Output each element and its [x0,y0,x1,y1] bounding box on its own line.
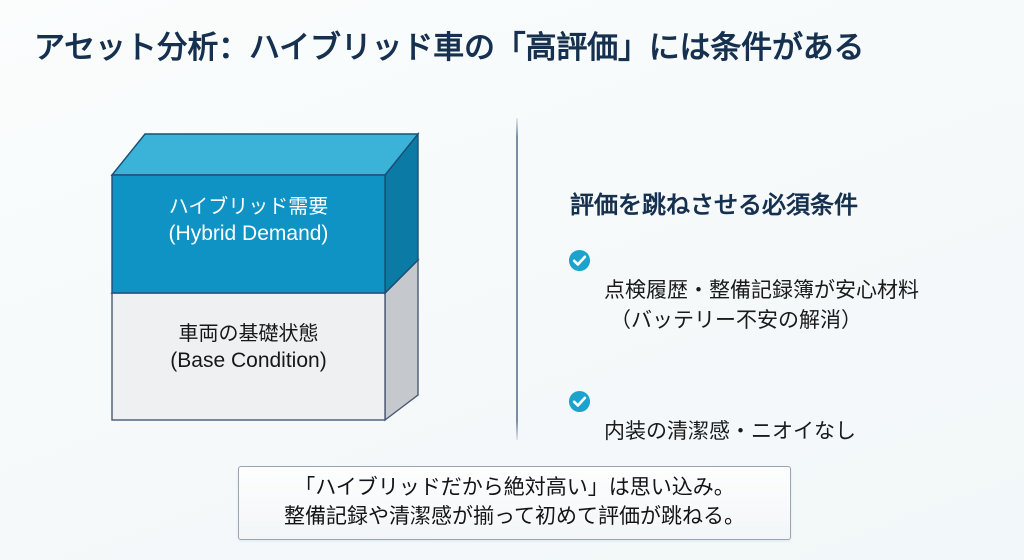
bullet-text-group: 点検履歴・整備記録簿が安心材料 （バッテリー不安の解消） [604,246,919,365]
summary-callout: 「ハイブリッドだから絶対高い」は思い込み。 整備記録や清潔感が揃って初めて評価が… [238,466,791,540]
bullet-main-0: 点検履歴・整備記録簿が安心材料 [604,279,919,302]
callout-line-2: 整備記録や清潔感が揃って初めて評価が跳ねる。 [284,503,745,532]
bullet-sub-0: （バッテリー不安の解消） [604,306,919,336]
block-diagram-svg [100,125,430,430]
hybrid-block-top-face [112,134,418,175]
bullet-text-group: 内装の清潔感・ニオイなし [604,387,856,447]
hybrid-block-front-face [112,175,385,293]
page-title: アセット分析：ハイブリッド車の「高評価」には条件がある [34,22,864,67]
stacked-block-diagram: ハイブリッド需要 (Hybrid Demand) 車両の基礎状態 (Base C… [100,125,430,430]
conditions-panel: 評価を跳ねさせる必須条件 点検履歴・整備記録簿が安心材料 （バッテリー不安の解消… [568,185,998,469]
slide-canvas: アセット分析：ハイブリッド車の「高評価」には条件がある [0,0,1024,560]
list-item: 点検履歴・整備記録簿が安心材料 （バッテリー不安の解消） [568,246,998,365]
bullet-main-1: 内装の清潔感・ニオイなし [604,420,856,443]
check-circle-icon [568,249,591,272]
check-circle-icon [568,390,591,413]
callout-line-1: 「ハイブリッドだから絶対高い」は思い込み。 [294,474,735,503]
vertical-divider [516,118,518,440]
list-item: 内装の清潔感・ニオイなし [568,387,998,447]
base-block-front-face [112,293,385,420]
panel-heading: 評価を跳ねさせる必須条件 [570,185,998,220]
